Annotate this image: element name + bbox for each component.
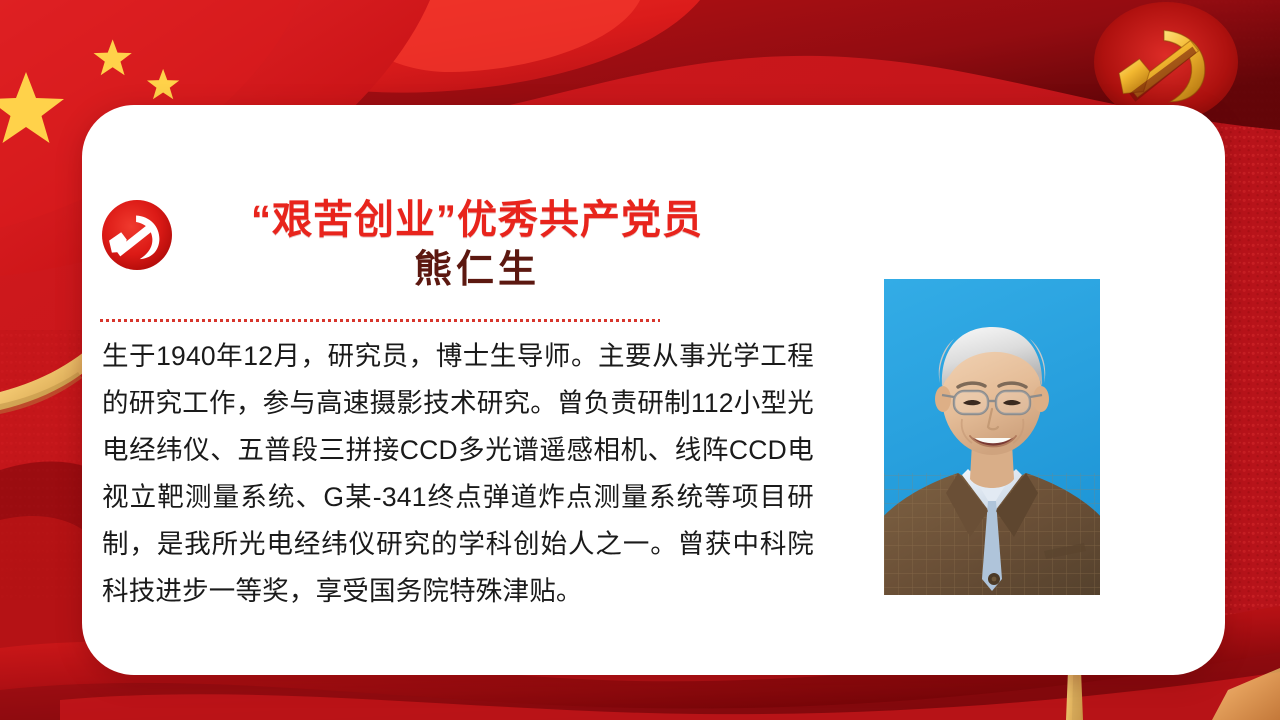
page-title: “艰苦创业”优秀共产党员: [197, 197, 757, 243]
headline-block: “艰苦创业”优秀共产党员 熊仁生: [197, 197, 757, 293]
portrait-photo: [884, 279, 1100, 595]
party-emblem-badge-icon: [99, 197, 175, 273]
content-card: “艰苦创业”优秀共产党员 熊仁生 生于1940年12月，研究员，博士生导师。主要…: [82, 105, 1225, 675]
corner-emblem-group: [1094, 2, 1238, 122]
dotted-divider: [100, 319, 660, 322]
person-name: 熊仁生: [197, 249, 757, 293]
biography-text: 生于1940年12月，研究员，博士生导师。主要从事光学工程的研究工作，参与高速摄…: [102, 333, 814, 615]
